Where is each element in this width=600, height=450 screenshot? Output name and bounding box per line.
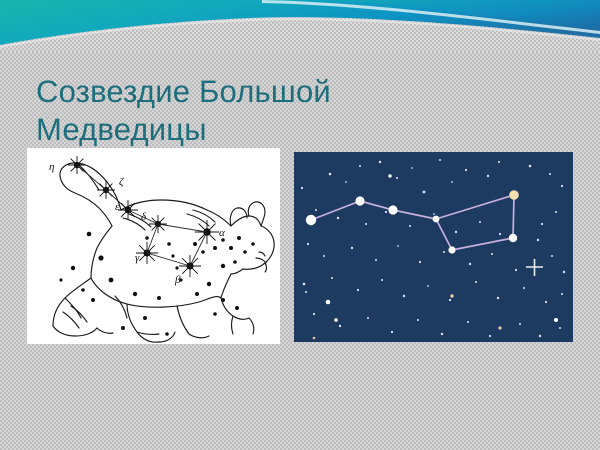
star-label-eta: η xyxy=(49,161,54,173)
star-label-gamma: γ xyxy=(135,252,140,264)
big-dipper-sky-image xyxy=(294,152,573,342)
star-label-epsilon: ε xyxy=(115,201,120,213)
header-decoration-band xyxy=(0,0,600,52)
star-label-delta: δ xyxy=(141,211,147,223)
big-dipper-graphic xyxy=(294,152,573,342)
presentation-slide: Созвездие Большой Медведицы xyxy=(0,0,600,450)
header-swoosh-graphic xyxy=(0,0,600,52)
bear-engraving-image: η ζ ε δ γ β α xyxy=(27,148,280,344)
slide-title: Созвездие Большой Медведицы xyxy=(36,73,466,149)
star-label-alpha: α xyxy=(219,227,225,239)
bear-engraving-graphic: η ζ ε δ γ β α xyxy=(27,148,280,344)
